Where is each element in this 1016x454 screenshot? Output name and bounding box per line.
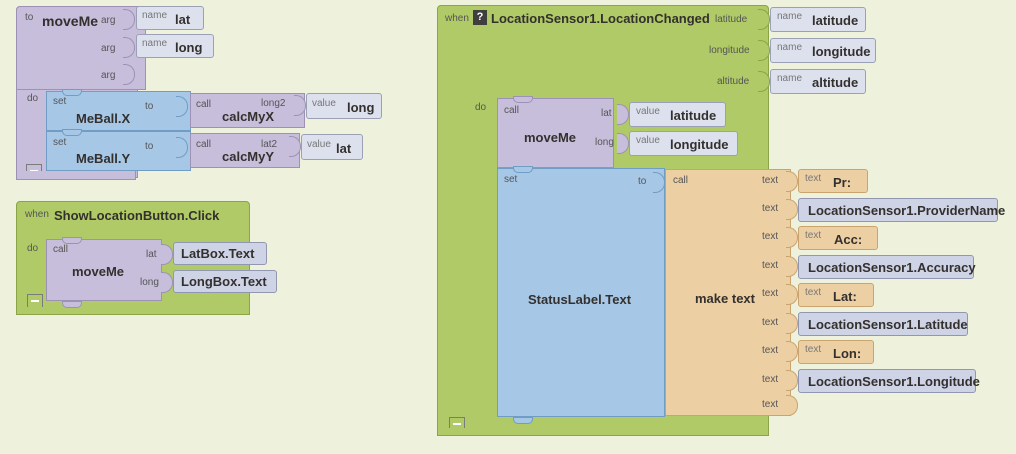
getter-LongBox-Text-value[interactable]: LongBox.Text [181, 274, 267, 289]
blocks-canvas[interactable]: to moveMe arg name lat arg name long arg… [0, 0, 1016, 454]
arg-name-label-0: name [142, 10, 167, 21]
event-loc-param-1-value[interactable]: longitude [812, 44, 871, 59]
event-loc-param-1-name-label: name [777, 42, 802, 53]
event-loc-param-0-value[interactable]: latitude [812, 13, 858, 28]
event-btn-collapse-minus-icon[interactable] [27, 294, 43, 308]
text-block-2-value[interactable]: Acc: [834, 232, 862, 247]
proc-arg-label-0: arg [101, 15, 115, 26]
text-block-4-inner-label: text [805, 287, 821, 298]
make-text-socket-label-6: text [762, 345, 778, 356]
call-x-procedure-name[interactable]: calcMyX [222, 109, 274, 124]
setter-x-property[interactable]: MeBall.X [76, 111, 130, 126]
setter-x-to-label: to [145, 101, 153, 112]
call-moveMe-sensor-param-0-label: lat [601, 108, 612, 119]
call-moveMe-btn-param-1-label: long [140, 277, 159, 288]
event-loc-bottom-rail [437, 428, 769, 436]
arg-name-label-1: name [142, 38, 167, 49]
event-btn-when-keyword: when [25, 209, 49, 220]
getter-block-1-value[interactable]: LocationSensor1.ProviderName [808, 203, 1005, 218]
call-moveMe-btn-name[interactable]: moveMe [72, 264, 124, 279]
call-moveMe-btn-call-label: call [53, 244, 68, 255]
event-loc-param-2-name-label: name [777, 73, 802, 84]
getter-block-3-value[interactable]: LocationSensor1.Accuracy [808, 260, 976, 275]
setter-status-to-label: to [638, 176, 646, 187]
proc-do-label: do [27, 93, 38, 104]
make-text-socket-label-1: text [762, 203, 778, 214]
getter-y-value-label: value [307, 139, 331, 150]
proc-to-keyword: to [25, 12, 33, 23]
make-text-socket-3[interactable] [786, 256, 798, 277]
make-text-socket-6[interactable] [786, 341, 798, 362]
setter-x-set-label: set [53, 96, 66, 107]
call-moveMe-btn-param-0-label: lat [146, 249, 157, 260]
make-text-socket-1[interactable] [786, 199, 798, 220]
make-text-socket-label-2: text [762, 231, 778, 242]
make-text-socket-label-3: text [762, 260, 778, 271]
text-block-0-inner-label: text [805, 173, 821, 184]
call-moveMe-sensor-call-label: call [504, 105, 519, 116]
call-moveMe-sensor-top-bump [513, 96, 533, 103]
event-loc-param-0-label: latitude [715, 14, 747, 25]
make-text-socket-label-0: text [762, 175, 778, 186]
make-text-socket-5[interactable] [786, 313, 798, 334]
setter-status-set-label: set [504, 174, 517, 185]
call-moveMe-btn-bottom-bump [62, 301, 82, 308]
make-text-socket-7[interactable] [786, 370, 798, 391]
call-y-param-label: lat2 [261, 139, 277, 150]
arg-name-value-long[interactable]: long [175, 40, 202, 55]
proc-bottom-rail [16, 171, 136, 180]
call-x-call-label: call [196, 99, 211, 110]
call-moveMe-sensor-param-0-value-label: value [636, 106, 660, 117]
event-loc-param-1-label: longitude [709, 45, 750, 56]
proc-arg-label-2: arg [101, 70, 115, 81]
question-mark-icon[interactable]: ? [473, 10, 487, 25]
event-loc-param-0-name-label: name [777, 11, 802, 22]
make-text-socket-0[interactable] [786, 171, 798, 192]
proc-name-moveMe[interactable]: moveMe [42, 13, 98, 29]
call-x-param-label: long2 [261, 98, 285, 109]
arg-name-value-lat[interactable]: lat [175, 12, 190, 27]
getter-x-value-label: value [312, 98, 336, 109]
setter-y-to-label: to [145, 141, 153, 152]
event-loc-param-2-label: altitude [717, 76, 749, 87]
event-loc-when-keyword: when [445, 13, 469, 24]
setter-y-set-label: set [53, 137, 66, 148]
getter-y-value[interactable]: lat [336, 141, 351, 156]
call-y-procedure-name[interactable]: calcMyY [222, 149, 274, 164]
event-btn-do-label: do [27, 243, 38, 254]
make-text-socket-4[interactable] [786, 284, 798, 305]
text-block-4-value[interactable]: Lat: [833, 289, 857, 304]
setter-y-property[interactable]: MeBall.Y [76, 151, 130, 166]
text-block-2-inner-label: text [805, 230, 821, 241]
setter-status-top-bump [513, 166, 533, 173]
event-loc-name[interactable]: LocationSensor1.LocationChanged [491, 11, 710, 26]
make-text-socket-label-5: text [762, 317, 778, 328]
make-text-call-label: call [673, 175, 688, 186]
setter-x-top-bump [62, 89, 82, 96]
make-text-socket-8-empty[interactable] [786, 395, 798, 416]
make-text-socket-label-8: text [762, 399, 778, 410]
event-loc-do-label: do [475, 102, 486, 113]
make-text-socket-2[interactable] [786, 227, 798, 248]
event-btn-name[interactable]: ShowLocationButton.Click [54, 208, 219, 223]
getter-LatBox-Text-value[interactable]: LatBox.Text [181, 246, 254, 261]
text-block-6-value[interactable]: Lon: [833, 346, 861, 361]
call-moveMe-sensor-param-1-label: long [595, 137, 614, 148]
setter-status-bottom-bump [513, 417, 533, 424]
make-text-socket-label-7: text [762, 374, 778, 385]
call-moveMe-sensor-name[interactable]: moveMe [524, 130, 576, 145]
make-text-socket-label-4: text [762, 288, 778, 299]
setter-status-property[interactable]: StatusLabel.Text [528, 292, 631, 307]
proc-arg-label-1: arg [101, 43, 115, 54]
call-moveMe-sensor-param-1-value-label: value [636, 135, 660, 146]
call-moveMe-sensor-param-1-value[interactable]: longitude [670, 137, 729, 152]
text-block-6-inner-label: text [805, 344, 821, 355]
setter-y-top-bump [62, 129, 82, 136]
event-btn-bottom-rail [16, 307, 250, 315]
getter-block-7-value[interactable]: LocationSensor1.Longitude [808, 374, 980, 389]
call-moveMe-sensor-param-0-value[interactable]: latitude [670, 108, 716, 123]
call-y-call-label: call [196, 139, 211, 150]
getter-block-5-value[interactable]: LocationSensor1.Latitude [808, 317, 968, 332]
make-text-title[interactable]: make text [695, 291, 755, 306]
text-block-0-value[interactable]: Pr: [833, 175, 851, 190]
call-moveMe-btn-top-bump [62, 237, 82, 244]
event-loc-param-2-value[interactable]: altitude [812, 75, 858, 90]
getter-x-value[interactable]: long [347, 100, 374, 115]
